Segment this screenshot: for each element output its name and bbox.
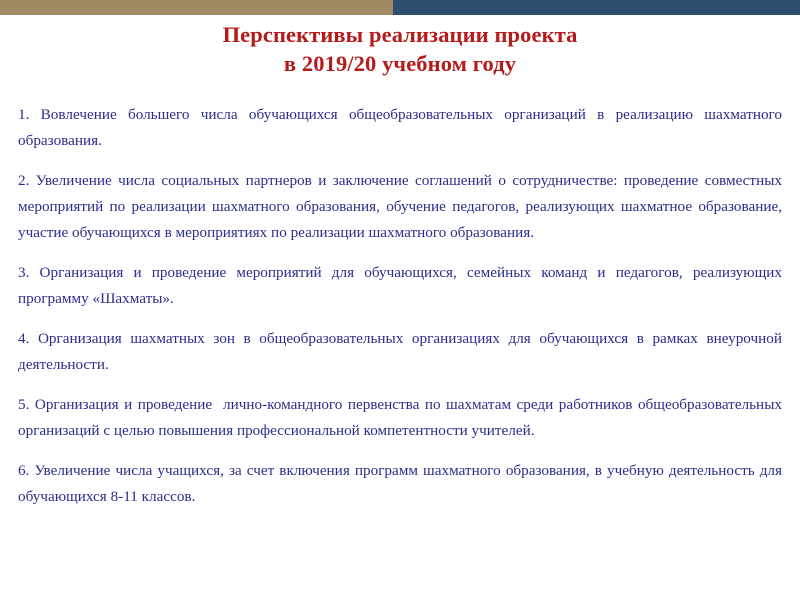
body-paragraph-1: 1. Вовлечение большего числа обучающихся…	[18, 102, 782, 154]
body-paragraph-5: 5. Организация и проведение лично-команд…	[18, 392, 782, 444]
slide-canvas: Перспективы реализации проекта в 2019/20…	[0, 0, 800, 600]
slide-title-line-2: в 2019/20 учебном году	[0, 49, 800, 78]
body-paragraph-2: 2. Увеличение числа социальных партнеров…	[18, 168, 782, 246]
slide-title: Перспективы реализации проекта в 2019/20…	[0, 20, 800, 78]
accent-bar-right-segment	[393, 0, 800, 15]
body-paragraph-6: 6. Увеличение числа учащихся, за счет вк…	[18, 458, 782, 510]
slide-title-line-1: Перспективы реализации проекта	[0, 20, 800, 49]
slide-body: 1. Вовлечение большего числа обучающихся…	[18, 102, 782, 510]
accent-bar-left-segment	[0, 0, 393, 15]
body-paragraph-3: 3. Организация и проведение мероприятий …	[18, 260, 782, 312]
slide-accent-bar	[0, 0, 800, 15]
body-paragraph-4: 4. Организация шахматных зон в общеобраз…	[18, 326, 782, 378]
